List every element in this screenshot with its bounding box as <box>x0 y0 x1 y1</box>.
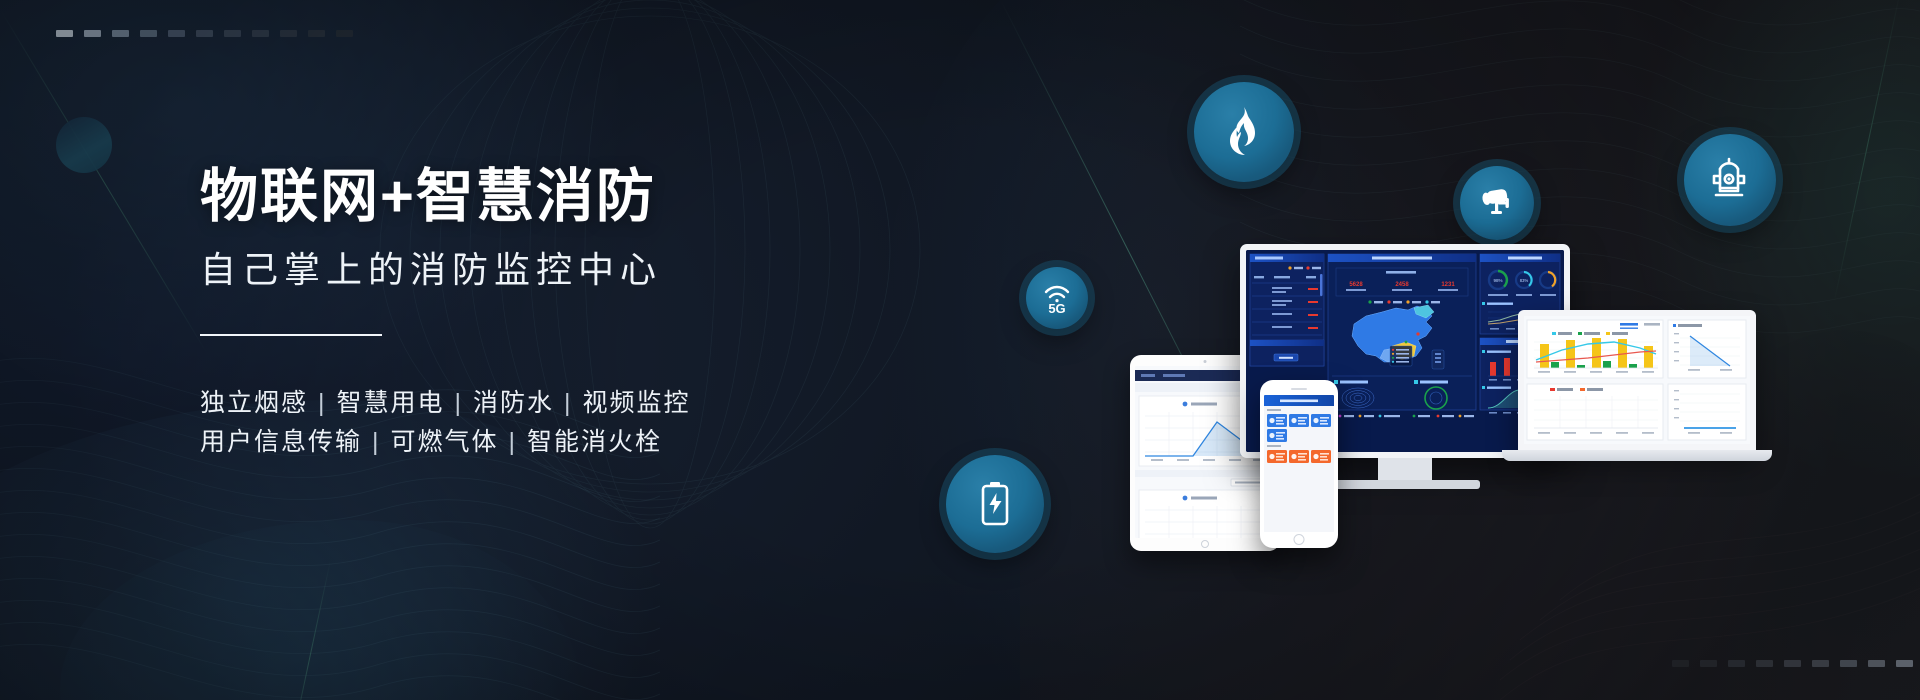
feature-separator: | <box>499 428 528 456</box>
svg-text:2458: 2458 <box>1395 282 1409 288</box>
title-divider <box>200 334 382 336</box>
hydrant-icon-badge <box>1684 134 1776 226</box>
flame-icon <box>1222 106 1266 158</box>
hero-copy: 物联网+智慧消防 自己掌上的消防监控中心 独立烟感|智慧用电|消防水|视频监控 … <box>200 168 960 462</box>
page-title: 物联网+智慧消防 <box>200 168 960 226</box>
svg-text:5628: 5628 <box>1349 282 1363 288</box>
monitor-neck <box>1378 458 1432 480</box>
feature-item: 消防水 <box>473 389 554 417</box>
device-mockups: 562824581231 <box>1120 280 1920 580</box>
feature-separator: | <box>308 389 337 417</box>
page-subtitle: 自己掌上的消防监控中心 <box>200 252 960 288</box>
hero-banner: 物联网+智慧消防 自己掌上的消防监控中心 独立烟感|智慧用电|消防水|视频监控 … <box>0 0 1920 700</box>
phone-speaker <box>1291 388 1307 390</box>
hydrant-icon <box>1708 155 1752 205</box>
5g-icon-badge: 5G <box>1026 267 1088 329</box>
feature-item: 独立烟感 <box>200 389 308 417</box>
feature-separator: | <box>554 389 583 417</box>
svg-text:83%: 83% <box>1520 278 1529 283</box>
laptop-device <box>1518 310 1788 475</box>
feature-row: 用户信息传输|可燃气体|智能消火栓 <box>200 423 960 462</box>
laptop-base <box>1502 450 1772 461</box>
phone-device <box>1260 380 1338 548</box>
laptop-bezel <box>1518 310 1756 450</box>
tablet-camera-dot <box>1204 360 1207 363</box>
phone-screen <box>1264 395 1334 532</box>
feature-row: 独立烟感|智慧用电|消防水|视频监控 <box>200 384 960 423</box>
battery-icon-badge <box>946 455 1044 553</box>
feature-separator: | <box>362 428 391 456</box>
cctv-icon-badge <box>1460 166 1534 240</box>
feature-item: 智能消火栓 <box>527 428 662 456</box>
feature-list: 独立烟感|智慧用电|消防水|视频监控 用户信息传输|可燃气体|智能消火栓 <box>200 384 960 462</box>
flame-icon-badge <box>1194 82 1294 182</box>
feature-item: 智慧用电 <box>337 389 445 417</box>
monitor-foot <box>1330 480 1480 489</box>
tablet-home-button[interactable] <box>1201 540 1209 548</box>
battery-icon <box>975 479 1015 529</box>
feature-item: 可燃气体 <box>391 428 499 456</box>
feature-item: 视频监控 <box>583 389 691 417</box>
svg-text:5G: 5G <box>1048 301 1065 314</box>
cctv-icon <box>1478 186 1516 220</box>
svg-text:98%: 98% <box>1493 278 1502 283</box>
laptop-screen <box>1524 316 1750 444</box>
feature-separator: | <box>445 389 474 417</box>
feature-item: 用户信息传输 <box>200 428 362 456</box>
svg-text:1231: 1231 <box>1441 282 1455 288</box>
phone-home-button[interactable] <box>1294 534 1305 545</box>
5g-icon: 5G <box>1040 282 1074 314</box>
